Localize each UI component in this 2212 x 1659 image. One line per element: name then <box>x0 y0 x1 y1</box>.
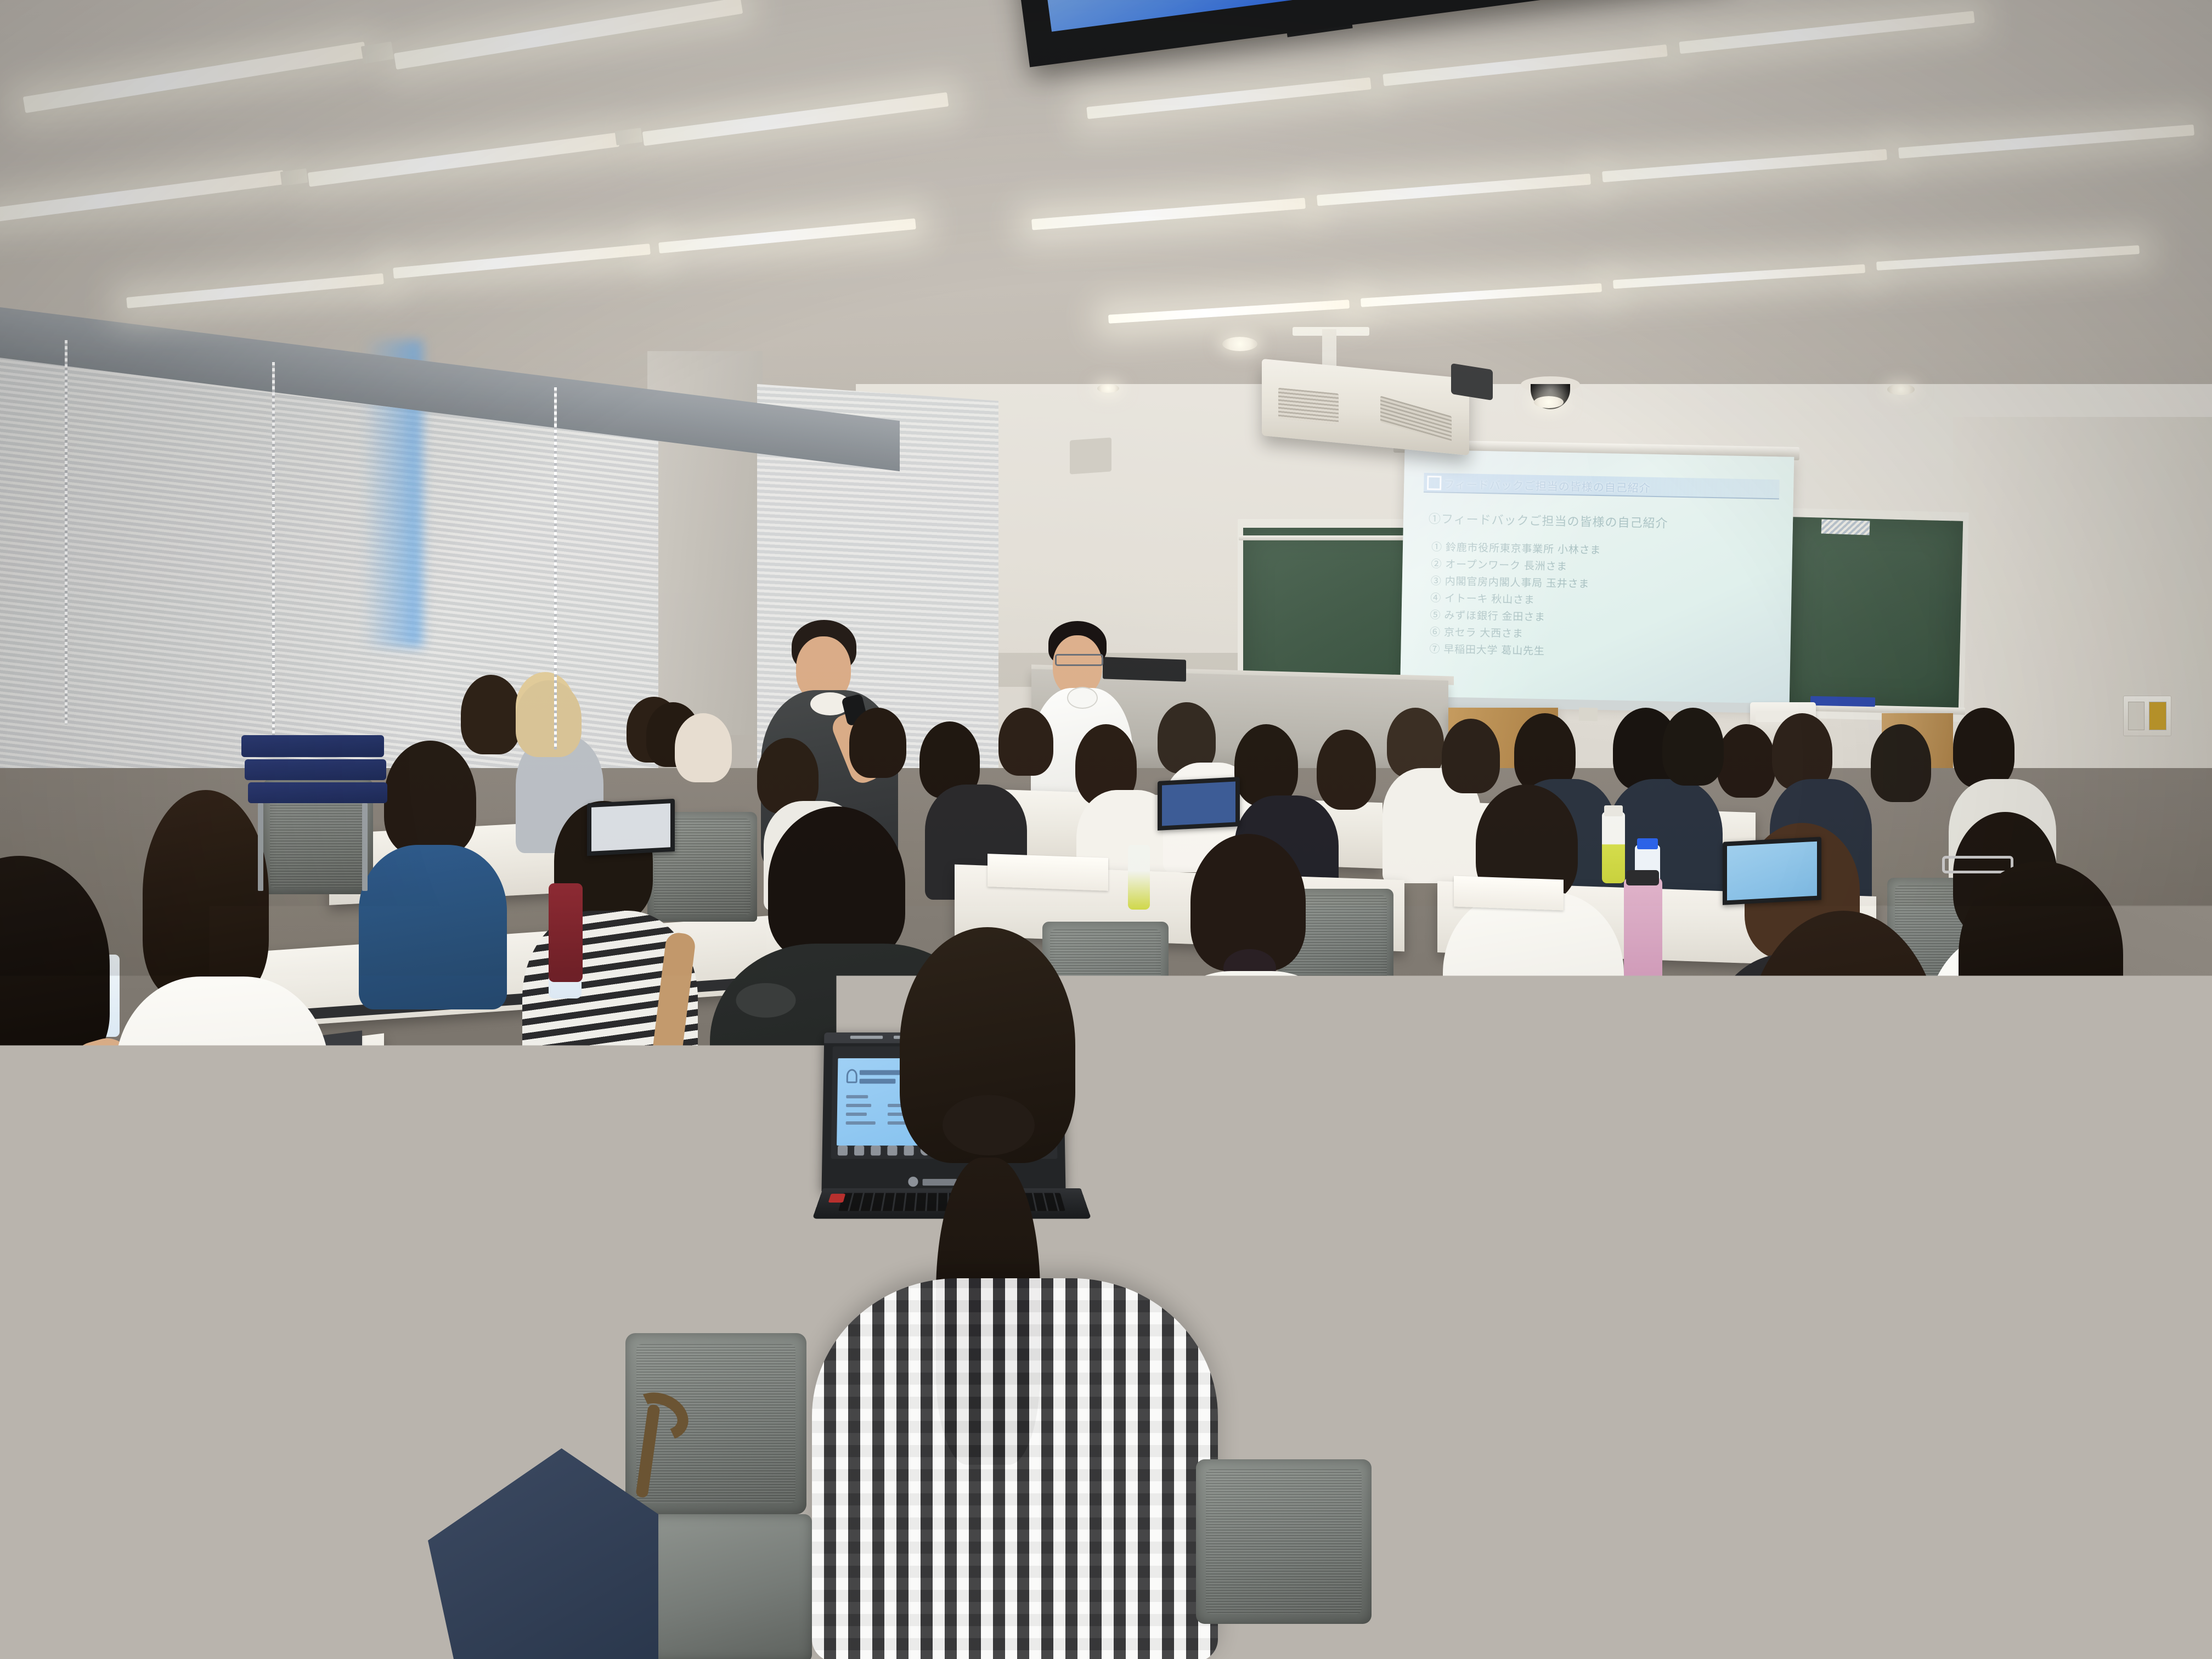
attendee-hair <box>768 806 905 960</box>
ceiling-downlight <box>1534 396 1564 408</box>
lecture-room-photo: フィードバックご担当の皆様の自己紹介 ①フィードバックご担当の皆様の自己紹介 ①… <box>0 0 2212 1659</box>
laptop[interactable] <box>587 799 675 856</box>
search-icon[interactable] <box>854 1145 864 1155</box>
screen-pull-tab[interactable] <box>1579 708 1598 721</box>
attendee-head <box>1387 708 1444 778</box>
attendee-hair <box>384 741 476 856</box>
attendee-hair <box>143 790 269 998</box>
slide-counter <box>923 1179 957 1186</box>
attendee-hair <box>516 680 582 757</box>
peach-tea-bottle[interactable] <box>1640 1031 1688 1174</box>
glasses-icon <box>1055 654 1103 666</box>
pink-tumbler[interactable] <box>1624 878 1662 982</box>
attendee-head <box>1234 724 1298 806</box>
attendee-hair <box>1745 911 1942 1196</box>
ceiling-downlight <box>1097 384 1119 393</box>
ponytail <box>1854 1169 1937 1487</box>
blind-cord[interactable] <box>65 340 67 724</box>
projection-screen: フィードバックご担当の皆様の自己紹介 ①フィードバックご担当の皆様の自己紹介 ①… <box>1400 449 1795 708</box>
green-tea-bottle[interactable] <box>1128 845 1150 910</box>
switch-indicator[interactable] <box>2149 702 2166 730</box>
slide-title: フィードバックご担当の皆様の自己紹介 <box>1443 476 1651 495</box>
presenter-view-icon[interactable] <box>871 1145 881 1155</box>
slideshow-icon[interactable] <box>887 1145 897 1155</box>
blind-cord[interactable] <box>272 362 275 735</box>
handout-paper[interactable] <box>988 854 1108 891</box>
chalk-box[interactable] <box>1810 696 1875 707</box>
hair-tie <box>943 1095 1035 1155</box>
blackboard-eraser[interactable] <box>1821 519 1870 535</box>
green-tea-bottle[interactable] <box>1602 812 1625 883</box>
wall-control-panel[interactable] <box>2123 696 2171 736</box>
attendee-head <box>1953 708 2015 788</box>
assistant-collar <box>1067 687 1098 709</box>
tumbler-lid[interactable] <box>1626 870 1659 885</box>
projector-vent-icon <box>1278 388 1339 425</box>
bottle-label <box>1643 1075 1685 1097</box>
projector-lens-icon <box>1451 363 1493 400</box>
attendee-head <box>1442 719 1500 793</box>
attendee-head <box>675 713 732 782</box>
tablet[interactable] <box>1723 837 1821 905</box>
attendee-torso <box>359 845 507 1009</box>
attendee-head <box>1662 708 1724 786</box>
attendee-hair <box>1959 861 2123 1048</box>
inventory-label <box>200 1243 244 1278</box>
light-switch[interactable] <box>2128 702 2145 730</box>
chalkboard-right <box>1788 517 1963 712</box>
attendee-head <box>1772 713 1832 790</box>
attendee-torso <box>812 1278 1218 1659</box>
ceiling-downlight <box>1222 337 1257 351</box>
bottle-cap[interactable] <box>1644 1018 1684 1037</box>
attendee-torso <box>115 977 329 1212</box>
power-indicator <box>828 1194 846 1203</box>
attendee-head <box>998 708 1053 776</box>
previous-slide-button[interactable] <box>908 1177 918 1187</box>
slide-list: ① 鈴鹿市役所東京事業所 小林さま ② オープンワーク 長洲さま ③ 内閣官房内… <box>1429 539 1781 664</box>
bottle-cap[interactable] <box>1637 838 1658 849</box>
pen-tool-icon[interactable] <box>838 1145 848 1155</box>
slide-title-bar: フィードバックご担当の皆様の自己紹介 <box>1424 473 1780 499</box>
attendee-head <box>1317 730 1376 810</box>
handout-paper[interactable] <box>1454 876 1564 911</box>
console-laptop[interactable] <box>1103 657 1186 681</box>
glasses-icon <box>1942 856 2013 873</box>
ceiling-downlight <box>1887 384 1915 395</box>
dark-red-tumbler[interactable] <box>549 883 583 982</box>
wall-speaker-left <box>1070 437 1111 474</box>
blind-cord[interactable] <box>554 387 557 749</box>
attendee-head <box>1717 724 1775 798</box>
slide-heading: ①フィードバックご担当の皆様の自己紹介 <box>1429 509 1668 531</box>
bottle-cap[interactable] <box>1604 805 1623 816</box>
slide-bullet-square-icon <box>1427 476 1441 490</box>
attendee-head <box>1871 724 1931 802</box>
notes-icon[interactable] <box>904 1145 914 1155</box>
attendee-head <box>461 675 521 754</box>
laptop[interactable] <box>1158 777 1240 831</box>
attendee-head <box>849 708 906 778</box>
